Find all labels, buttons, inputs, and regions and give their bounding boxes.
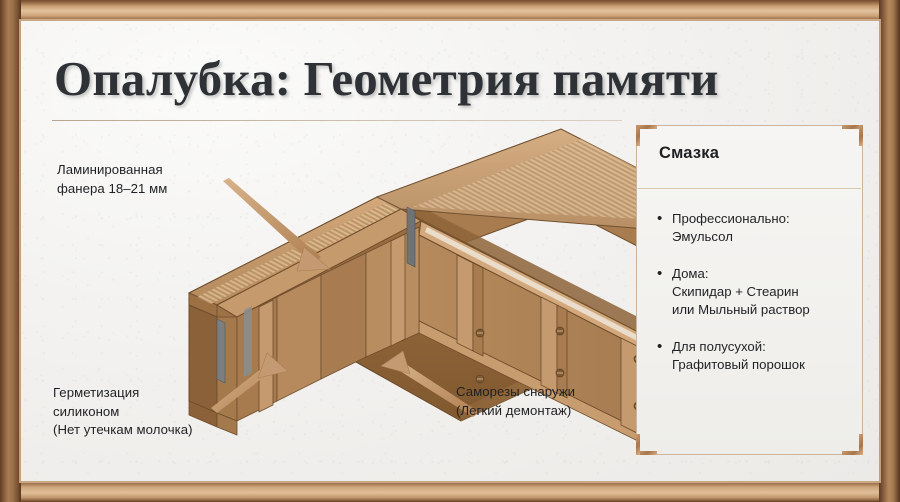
callout-label-screws: Саморезы снаружи (Легкий демонтаж) bbox=[456, 383, 656, 420]
corner-seal-strip bbox=[407, 207, 415, 267]
slide-canvas: Опалубка: Геометрия памяти bbox=[21, 21, 879, 481]
frame-border-right bbox=[879, 0, 900, 502]
frame-border-top bbox=[0, 0, 900, 21]
callout-label-silicone: Герметизация силиконом (Нет утечкам моло… bbox=[53, 384, 268, 440]
frame-border-bottom bbox=[0, 481, 900, 502]
frame-border-left bbox=[0, 0, 21, 502]
card-title: Смазка bbox=[659, 144, 846, 163]
card-bullet-list: Профессионально: Эмульсол Дома: Скипидар… bbox=[657, 210, 850, 393]
card-divider bbox=[638, 188, 861, 189]
card-corner-bottom-left bbox=[636, 434, 657, 455]
callout-label-plywood: Ламинированная фанера 18–21 мм bbox=[57, 161, 247, 198]
card-bullet-item: Дома: Скипидар + Стеарин или Мыльный рас… bbox=[657, 265, 850, 319]
info-card-lubricant: Смазка Профессионально: Эмульсол Дома: С… bbox=[636, 125, 863, 455]
card-bullet-item: Профессионально: Эмульсол bbox=[657, 210, 850, 246]
card-bullet-item: Для полусухой: Графитовый порошок bbox=[657, 338, 850, 374]
card-corner-bottom-right bbox=[842, 434, 863, 455]
card-corner-top-right bbox=[842, 125, 863, 146]
card-corner-top-left bbox=[636, 125, 657, 146]
slide-root: Опалубка: Геометрия памяти bbox=[0, 0, 900, 502]
